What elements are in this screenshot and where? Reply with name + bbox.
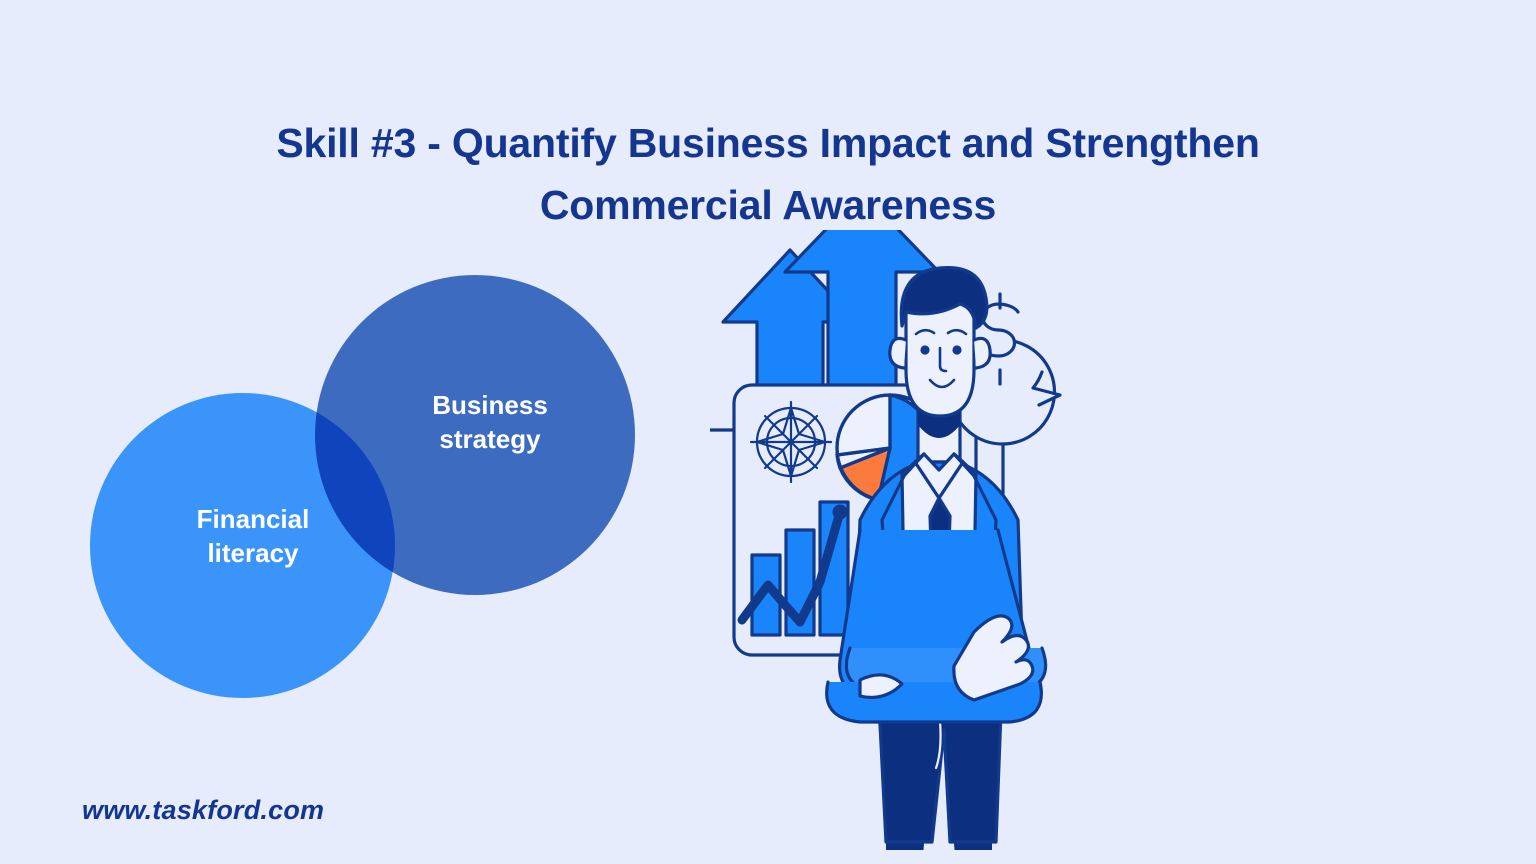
- ear-right: [974, 338, 990, 368]
- ear-left: [890, 338, 906, 368]
- business-analytics-illustration: [710, 230, 1340, 850]
- slide-canvas: Skill #3 - Quantify Business Impact and …: [0, 0, 1536, 864]
- page-title: Skill #3 - Quantify Business Impact and …: [168, 113, 1368, 236]
- footer-website-url[interactable]: www.taskford.com: [82, 795, 324, 826]
- venn-circle-business-strategy: [315, 275, 635, 595]
- venn-diagram: Financial literacy Business strategy: [60, 240, 700, 720]
- trend-line-endpoint: [833, 505, 848, 520]
- eye-right: [952, 345, 961, 354]
- eye-left: [920, 345, 929, 354]
